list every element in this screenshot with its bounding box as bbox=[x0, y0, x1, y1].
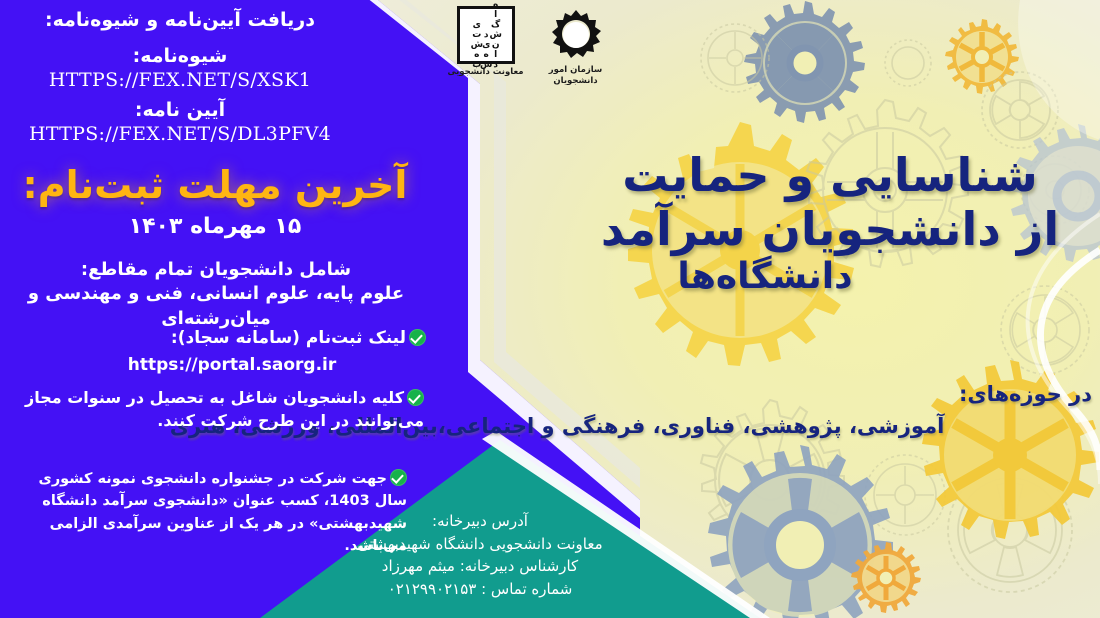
ayinname-label: آیین نامه: bbox=[0, 98, 360, 124]
secretariat-expert: کارشناس دبیرخانه: میثم مهرزاد bbox=[300, 555, 660, 578]
deadline-date: ۱۵ مهرماه ۱۴۰۳ bbox=[0, 212, 430, 242]
scope-line-2: علوم پایه، علوم انسانی، فنی و مهندسی و م… bbox=[0, 282, 432, 331]
shahid-beheshti-logo-icon: دانشگاه شهید بهشتی bbox=[457, 6, 515, 64]
poster-root: دانشگاه شهید بهشتی معاونت دانشجویی سازما… bbox=[0, 0, 1100, 618]
headline-line-1: شناسایی و حمایت bbox=[580, 150, 1080, 202]
bullet-eligibility: کلیه دانشجویان شاغل به تحصیل در سنوات مج… bbox=[4, 386, 424, 432]
bullet-registration-link: لینک ثبت‌نام (سامانه سجاد): https://port… bbox=[8, 326, 426, 377]
logo-organization-caption: سازمان امور دانشجویان bbox=[549, 65, 603, 88]
bullet-1-text: لینک ثبت‌نام (سامانه سجاد): bbox=[171, 328, 406, 348]
secretariat-phone: شماره تماس : ۰۲۱۲۹۹۰۲۱۵۳ bbox=[300, 578, 660, 601]
shivename-label: شیوه‌نامه: bbox=[0, 44, 360, 70]
student-affairs-org-logo-icon bbox=[548, 6, 604, 62]
headline-line-3: دانشگاه‌ها bbox=[580, 257, 1080, 297]
check-circle-icon bbox=[409, 329, 426, 346]
logo-organization: سازمان امور دانشجویان bbox=[548, 6, 604, 88]
bullet-2-text: کلیه دانشجویان شاغل به تحصیل در سنوات مج… bbox=[25, 388, 424, 430]
registration-url[interactable]: https://portal.saorg.ir bbox=[8, 353, 426, 378]
ayinname-url[interactable]: HTTPS://FEX.NET/S/DL3PFV4 bbox=[0, 122, 360, 148]
secretariat-block: آدرس دبیرخانه: معاونت دانشجویی دانشگاه ش… bbox=[300, 510, 660, 600]
secretariat-address-label: آدرس دبیرخانه: bbox=[300, 510, 660, 533]
sbu-mark-text: دانشگاه شهید بهشتی bbox=[471, 0, 499, 70]
headline-line-2: از دانشجویان سرآمد bbox=[580, 204, 1080, 256]
white-corner-wedge bbox=[1018, 0, 1100, 140]
check-circle-icon bbox=[390, 469, 407, 486]
logo-university-caption: معاونت دانشجویی bbox=[447, 67, 523, 78]
page-title: شناسایی و حمایت از دانشجویان سرآمد دانشگ… bbox=[580, 150, 1080, 297]
download-heading: دریافت آیین‌نامه و شیوه‌نامه: bbox=[0, 8, 360, 34]
logo-row: دانشگاه شهید بهشتی معاونت دانشجویی سازما… bbox=[418, 6, 633, 110]
secretariat-address-line: معاونت دانشجویی دانشگاه شهیدبهشتی bbox=[300, 533, 660, 556]
check-circle-icon bbox=[407, 389, 424, 406]
scope-line-1: شامل دانشجویان تمام مقاطع: bbox=[0, 258, 432, 282]
eligibility-scope: شامل دانشجویان تمام مقاطع: علوم پایه، عل… bbox=[0, 258, 432, 331]
deadline-title: آخرین مهلت ثبت‌نام: bbox=[0, 160, 430, 211]
shivename-url[interactable]: HTTPS://FEX.NET/S/XSK1 bbox=[0, 68, 360, 94]
logo-university: دانشگاه شهید بهشتی معاونت دانشجویی bbox=[447, 6, 523, 78]
